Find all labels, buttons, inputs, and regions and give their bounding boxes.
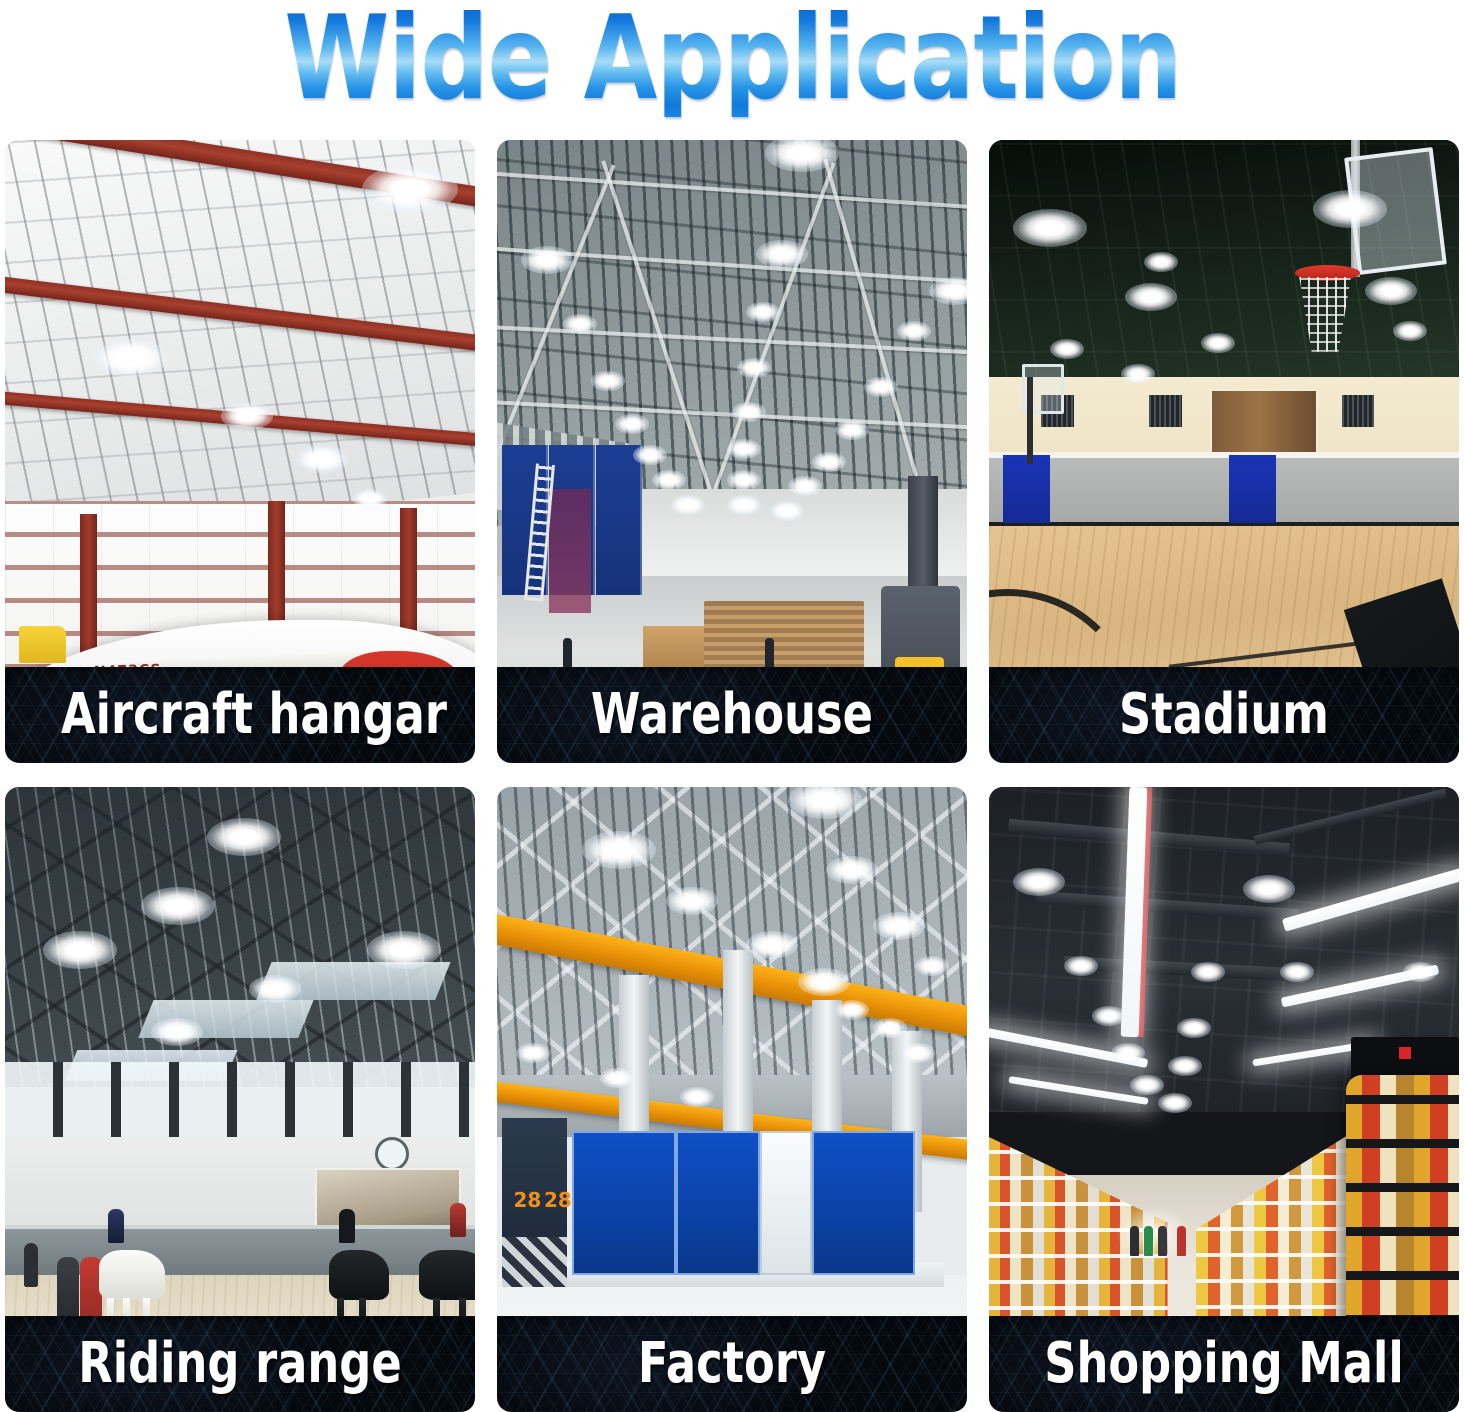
shopper — [1177, 1226, 1186, 1256]
card-caption: Warehouse — [497, 667, 967, 763]
hoop-pole-secondary — [1027, 377, 1033, 464]
hangar-roof — [5, 140, 475, 550]
horse-rider — [450, 1203, 466, 1237]
hoop-base-pad — [1229, 455, 1276, 524]
machine-number: 28 — [513, 1188, 541, 1212]
wall-padding — [989, 452, 1459, 527]
card-label: Factory — [544, 1336, 920, 1392]
card-label: Warehouse — [544, 687, 920, 743]
application-card-stadium[interactable]: Stadium — [989, 140, 1459, 763]
application-card-riding-range[interactable]: Riding range — [5, 787, 475, 1412]
card-caption: Shopping Mall — [989, 1316, 1459, 1412]
card-caption: Aircraft hangar — [5, 667, 475, 763]
application-card-aircraft-hangar[interactable]: N473CS N6973G Aircraft hangar — [5, 140, 475, 763]
machine-enclosure — [572, 1131, 675, 1275]
machine-number: 28 — [544, 1188, 572, 1212]
sign-badge-icon — [1399, 1047, 1411, 1059]
hazard-stripe — [502, 1237, 568, 1287]
backboard — [1344, 147, 1447, 275]
vent-grille-icon — [1342, 395, 1375, 426]
machine-enclosure — [812, 1131, 915, 1275]
card-label: Shopping Mall — [1036, 1336, 1412, 1392]
shopper — [1158, 1226, 1167, 1256]
vent-grille-icon — [1149, 395, 1182, 426]
roller-door — [596, 445, 642, 595]
skylight — [256, 962, 450, 1000]
airplane-tail-second — [19, 626, 66, 663]
application-card-grid: N473CS N6973G Aircraft hangar — [5, 140, 1460, 1412]
horse-rider — [339, 1209, 355, 1243]
wide-application-infographic: Wide Application N473CS N6973G — [0, 0, 1465, 1412]
spectator — [24, 1243, 38, 1287]
hoop-base-pad — [1003, 455, 1050, 524]
wall-poster — [1210, 389, 1318, 458]
card-caption: Stadium — [989, 667, 1459, 763]
arena-roof-trusses — [5, 787, 475, 1087]
horse-rider — [108, 1209, 124, 1243]
card-caption: Factory — [497, 1316, 967, 1412]
application-card-factory[interactable]: 28 28 Factory — [497, 787, 967, 1412]
card-caption: Riding range — [5, 1316, 475, 1412]
page-title-text: Wide Application — [284, 1, 1181, 117]
card-label: Riding range — [52, 1336, 428, 1392]
shopper — [1130, 1226, 1139, 1256]
shopper — [1144, 1226, 1153, 1256]
skylight — [138, 1000, 313, 1038]
stacked-goods — [549, 489, 591, 614]
card-label: Aircraft hangar — [61, 687, 437, 743]
machine-enclosure-white — [760, 1131, 812, 1275]
machine-enclosure — [676, 1131, 761, 1275]
page-title: Wide Application — [0, 0, 1465, 118]
application-card-shopping-mall[interactable]: Shopping Mall — [989, 787, 1459, 1412]
application-card-warehouse[interactable]: Warehouse — [497, 140, 967, 763]
clock-icon — [375, 1137, 409, 1171]
card-label: Stadium — [1036, 687, 1412, 743]
